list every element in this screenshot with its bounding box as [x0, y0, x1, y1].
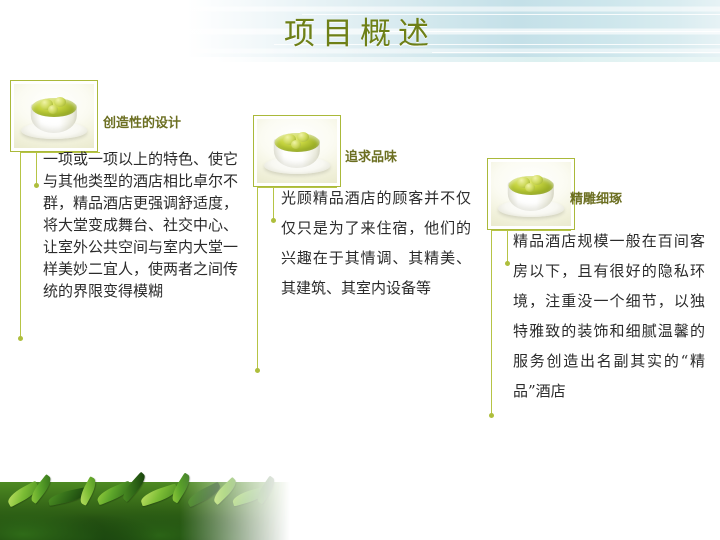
card-label-2: 追求品味: [345, 146, 397, 165]
connector-line-3-short: [507, 231, 508, 263]
tea-leaf-icon: [48, 105, 58, 114]
card-body-1: 一项或一项以上的特色、使它与其他类型的酒店相比卓尔不群，精品酒店更强调舒适度，将…: [43, 148, 238, 302]
connector-line-2-long: [257, 188, 258, 370]
card-label-3: 精雕细琢: [570, 188, 622, 207]
connector-dot-2-long: [255, 368, 260, 373]
connector-dot-2-short: [271, 218, 276, 223]
teacup-photo-3: [491, 162, 571, 226]
card-image-frame-2: [253, 115, 341, 187]
connector-dot-3-short: [505, 261, 510, 266]
foliage-decoration: [0, 448, 290, 540]
teacup-photo-1: [14, 84, 94, 148]
tea-leaf-icon: [525, 183, 535, 192]
header-baseline: [0, 57, 720, 62]
slide-canvas: 项目概述 创造性的设计 一项或一项以上的特色、使它与其他类型的酒店相比卓尔不群，…: [0, 0, 720, 540]
tea-leaf-icon: [291, 140, 301, 149]
card-image-frame-1: [10, 80, 98, 152]
connector-dot-1-short: [34, 183, 39, 188]
connector-line-2-short: [273, 188, 274, 220]
card-label-1: 创造性的设计: [103, 112, 181, 131]
card-body-3: 精品酒店规模一般在百间客房以下，且有很好的隐私环境，注重没一个细节，以独特雅致的…: [513, 226, 705, 406]
connector-dot-3-long: [489, 413, 494, 418]
connector-dot-1-long: [18, 336, 23, 341]
teacup-photo-2: [257, 119, 337, 183]
card-image-frame-3: [487, 158, 575, 230]
connector-line-1-long: [20, 153, 21, 338]
page-title: 项目概述: [0, 8, 720, 53]
card-body-2: 光顾精品酒店的顾客并不仅仅只是为了来住宿，他们的兴趣在于其情调、其精美、其建筑、…: [281, 183, 471, 303]
connector-line-3-long: [491, 231, 492, 415]
connector-line-1-short: [36, 153, 37, 185]
